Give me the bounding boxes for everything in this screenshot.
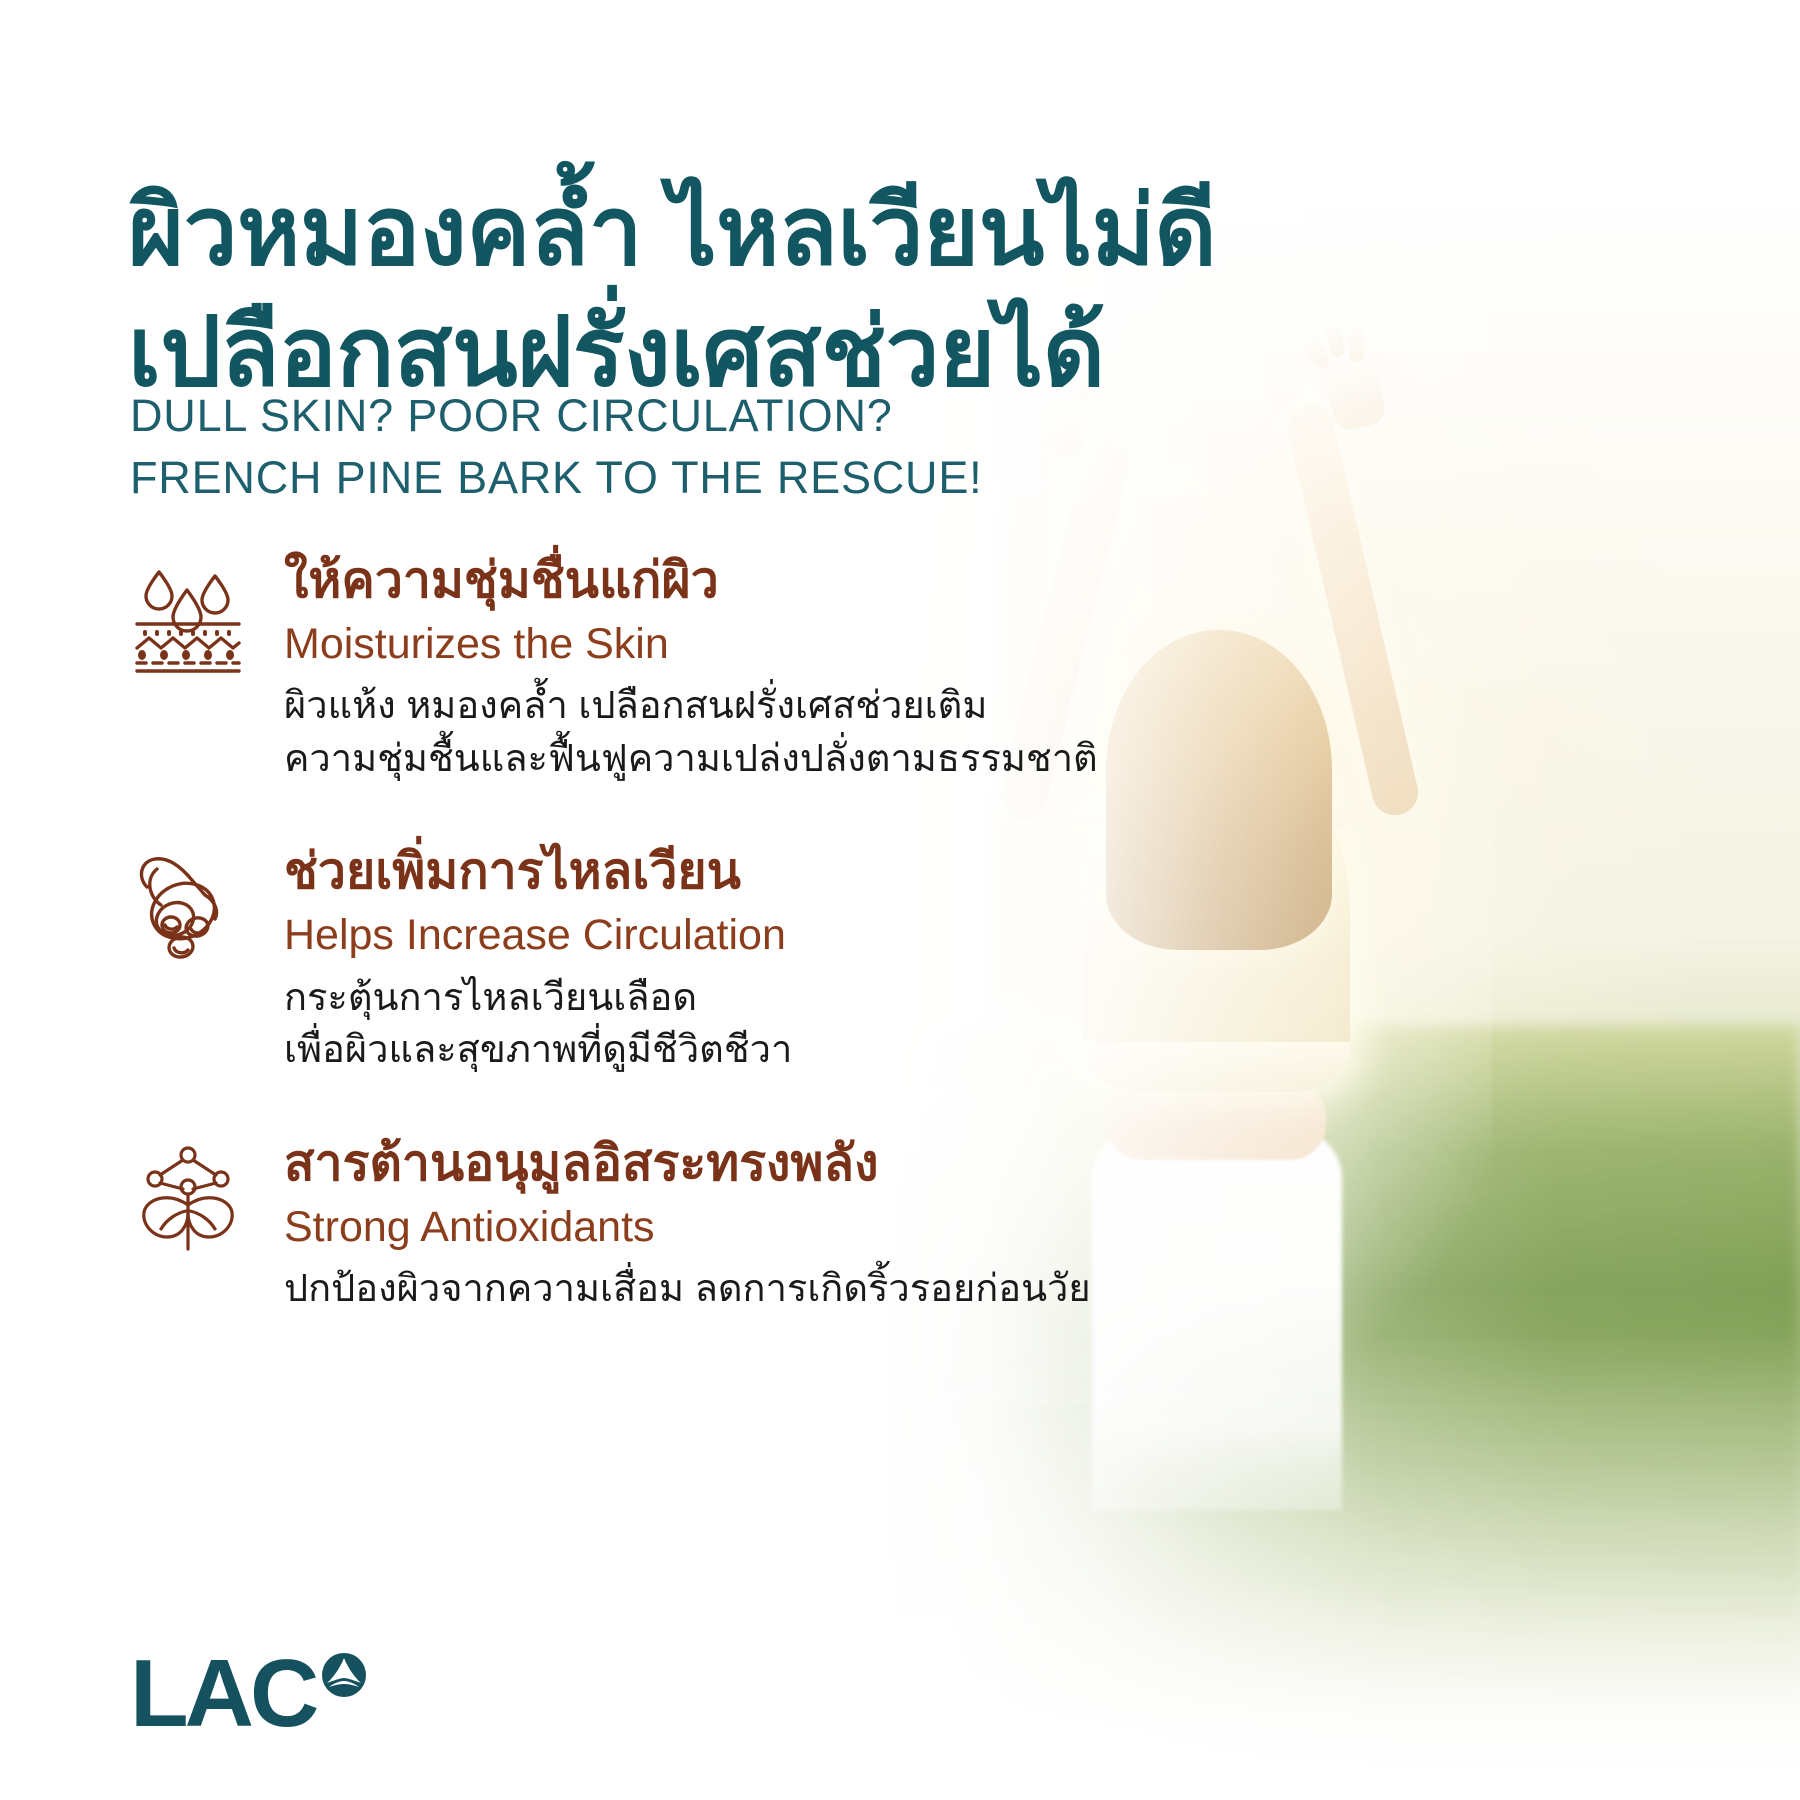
- brand-logo: LAC: [130, 1646, 367, 1742]
- headline-line-1: ผิวหมองคล้ำ ไหลเวียนไม่ดี: [128, 172, 1368, 293]
- benefit-desc-line-1: ปกป้องผิวจากความเสื่อม ลดการเกิดริ้วรอยก…: [284, 1263, 1188, 1315]
- benefit-desc-line-1: กระตุ้นการไหลเวียนเลือด: [284, 972, 1188, 1024]
- benefit-desc-line-2: ความชุ่มชื้นและฟื้นฟูความเปล่งปลั่งตามธร…: [284, 733, 1188, 785]
- brand-name: LAC: [130, 1646, 315, 1742]
- benefit-description: ผิวแห้ง หมองคล้ำ เปลือกสนฝรั่งเศสช่วยเติ…: [284, 680, 1188, 785]
- benefit-item: ให้ความชุ่มชื่นแก่ผิว Moisturizes the Sk…: [128, 548, 1188, 785]
- benefit-title-en: Helps Increase Circulation: [284, 909, 1188, 961]
- benefit-title-th: สารต้านอนุมูลอิสระทรงพลัง: [284, 1133, 1188, 1193]
- benefit-title-th: ช่วยเพิ่มการไหลเวียน: [284, 841, 1188, 901]
- circle-triangle-emblem-icon: [321, 1652, 367, 1703]
- benefits-list: ให้ความชุ่มชื่นแก่ผิว Moisturizes the Sk…: [128, 548, 1188, 1370]
- benefit-desc-line-2: เพื่อผิวและสุขภาพที่ดูมีชีวิตชีวา: [284, 1024, 1188, 1076]
- page-title: ผิวหมองคล้ำ ไหลเวียนไม่ดี เปลือกสนฝรั่งเ…: [128, 172, 1368, 414]
- benefit-title-en: Moisturizes the Skin: [284, 618, 1188, 670]
- subtitle-line-2: FRENCH PINE BARK TO THE RESCUE!: [130, 447, 1230, 509]
- blood-cells-circulation-icon: [128, 839, 248, 973]
- benefit-description: กระตุ้นการไหลเวียนเลือด เพื่อผิวและสุขภา…: [284, 972, 1188, 1077]
- benefit-title-en: Strong Antioxidants: [284, 1201, 1188, 1253]
- benefit-text: ให้ความชุ่มชื่นแก่ผิว Moisturizes the Sk…: [284, 548, 1188, 785]
- benefit-text: สารต้านอนุมูลอิสระทรงพลัง Strong Antioxi…: [284, 1131, 1188, 1316]
- subtitle-line-1: DULL SKIN? POOR CIRCULATION?: [130, 385, 1230, 447]
- benefit-description: ปกป้องผิวจากความเสื่อม ลดการเกิดริ้วรอยก…: [284, 1263, 1188, 1315]
- benefit-item: ช่วยเพิ่มการไหลเวียน Helps Increase Circ…: [128, 839, 1188, 1076]
- content-layer: ผิวหมองคล้ำ ไหลเวียนไม่ดี เปลือกสนฝรั่งเ…: [0, 0, 1800, 1800]
- subtitle: DULL SKIN? POOR CIRCULATION? FRENCH PINE…: [130, 385, 1230, 509]
- skin-layers-water-drops-icon: [128, 548, 248, 682]
- benefit-title-th: ให้ความชุ่มชื่นแก่ผิว: [284, 550, 1188, 610]
- plant-leaf-antioxidant-icon: [128, 1131, 248, 1265]
- poster-canvas: ผิวหมองคล้ำ ไหลเวียนไม่ดี เปลือกสนฝรั่งเ…: [0, 0, 1800, 1800]
- benefit-item: สารต้านอนุมูลอิสระทรงพลัง Strong Antioxi…: [128, 1131, 1188, 1316]
- benefit-text: ช่วยเพิ่มการไหลเวียน Helps Increase Circ…: [284, 839, 1188, 1076]
- benefit-desc-line-1: ผิวแห้ง หมองคล้ำ เปลือกสนฝรั่งเศสช่วยเติ…: [284, 680, 1188, 732]
